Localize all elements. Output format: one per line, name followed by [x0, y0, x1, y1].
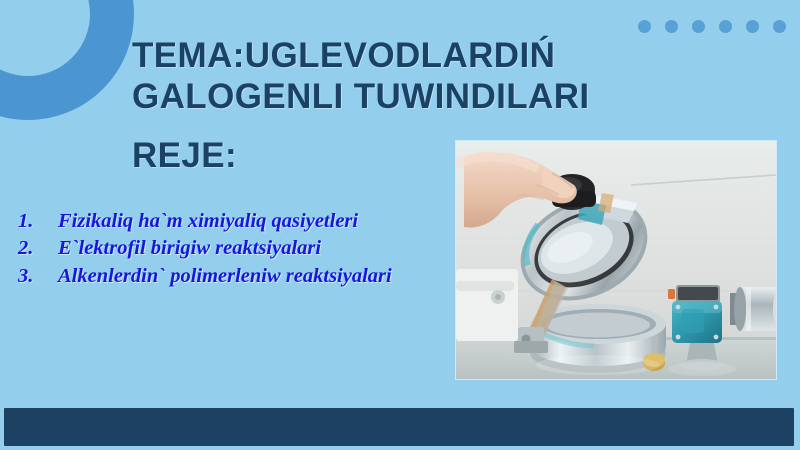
- list-item: 1. Fizikaliq ha`m ximiyaliq qasiyetleri: [12, 208, 452, 235]
- slide-photo: [456, 141, 776, 379]
- title-line-1: TEMA:UGLEVODLARDIŃ: [132, 36, 672, 77]
- dot-icon: [773, 20, 786, 33]
- dot-icon: [692, 20, 705, 33]
- page-title: TEMA:UGLEVODLARDIŃ GALOGENLI TUWINDILARI: [132, 36, 672, 118]
- title-line-2: GALOGENLI TUWINDILARI: [132, 77, 672, 118]
- list-item-label: Fizikaliq ha`m ximiyaliq qasiyetleri: [58, 208, 452, 235]
- list-item-label: E`lektrofil birigiw reaktsiyalari: [58, 235, 452, 262]
- dot-icon: [665, 20, 678, 33]
- list-item-number: 1.: [12, 208, 58, 235]
- list-item: 2. E`lektrofil birigiw reaktsiyalari: [12, 235, 452, 262]
- presentation-slide: TEMA:UGLEVODLARDIŃ GALOGENLI TUWINDILARI…: [0, 0, 800, 450]
- dot-icon: [719, 20, 732, 33]
- lab-vessel-photo-illustration: [456, 141, 776, 379]
- dot-icon: [638, 20, 651, 33]
- footer-bar: [4, 408, 794, 446]
- dot-row-decoration: [638, 20, 786, 33]
- list-item-label: Alkenlerdin` polimerleniw reaktsiyalari: [58, 263, 452, 290]
- quarter-ring-arc-icon: [0, 0, 134, 120]
- agenda-list: 1. Fizikaliq ha`m ximiyaliq qasiyetleri …: [12, 208, 452, 290]
- list-item-number: 2.: [12, 235, 58, 262]
- list-item-number: 3.: [12, 263, 58, 290]
- list-item: 3. Alkenlerdin` polimerleniw reaktsiyala…: [12, 263, 452, 290]
- arc-decoration: [0, 0, 134, 120]
- dot-icon: [746, 20, 759, 33]
